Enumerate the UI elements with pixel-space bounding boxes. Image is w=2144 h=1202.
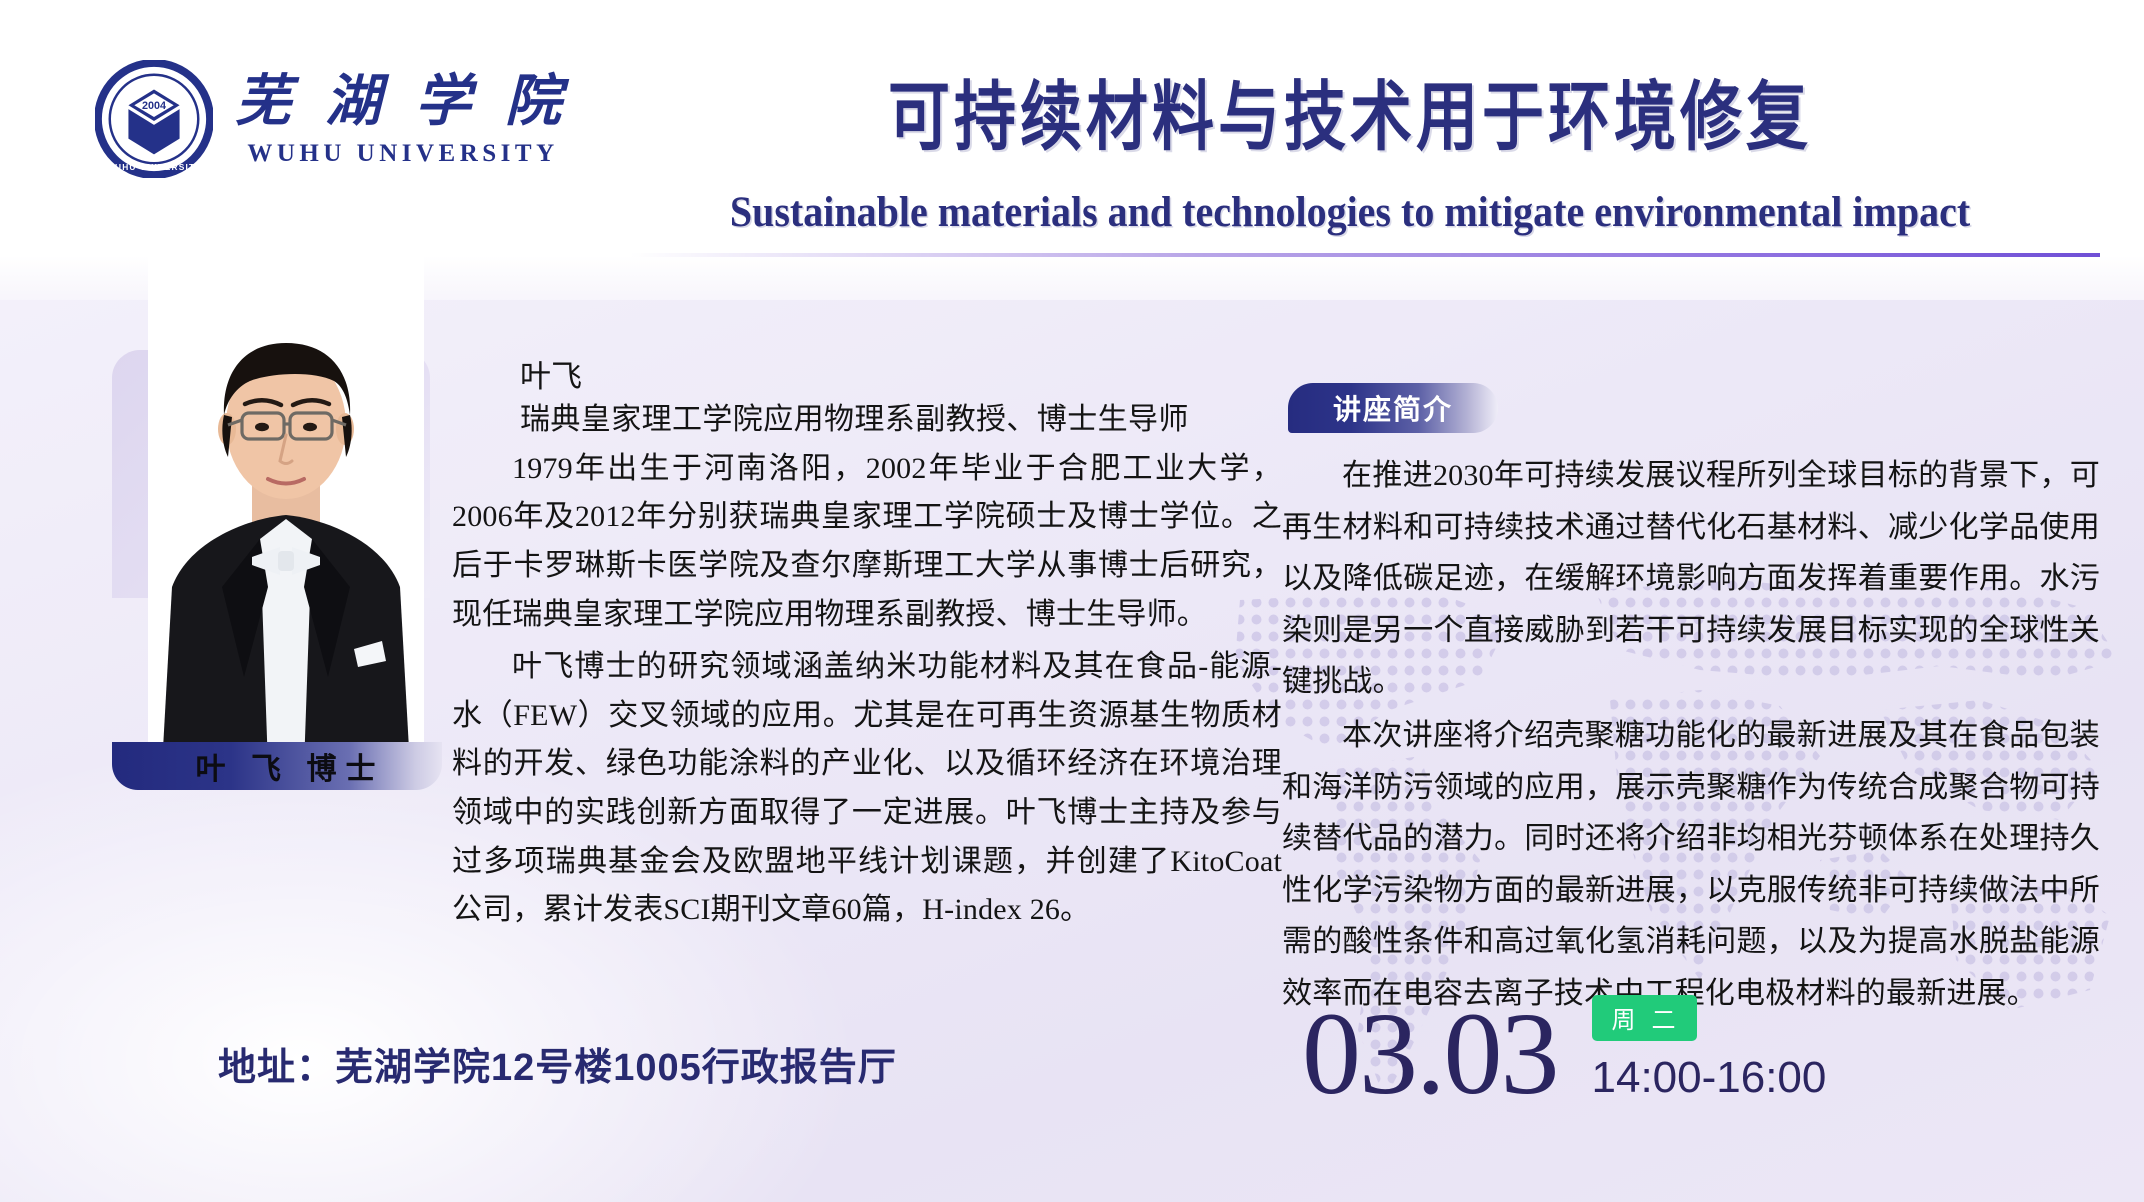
speaker-nameplate: 叶 飞 博士 bbox=[112, 742, 442, 790]
speaker-bio: 叶飞 瑞典皇家理工学院应用物理系副教授、博士生导师 1979年出生于河南洛阳，2… bbox=[452, 358, 1282, 935]
university-name-en: WUHU UNIVERSITY bbox=[247, 140, 558, 168]
poster-title-en: Sustainable materials and technologies t… bbox=[620, 186, 2080, 237]
event-date-block: 03.03 周 二 14:00-16:00 bbox=[1302, 995, 1826, 1109]
svg-text:2004: 2004 bbox=[142, 100, 166, 112]
abstract-badge: 讲座简介 bbox=[1288, 383, 1498, 433]
event-time: 14:00-16:00 bbox=[1592, 1053, 1827, 1103]
speaker-position: 瑞典皇家理工学院应用物理系副教授、博士生导师 bbox=[520, 400, 1282, 439]
title-divider-rule bbox=[630, 253, 2100, 257]
svg-text:WUHU UNIVERSITY: WUHU UNIVERSITY bbox=[106, 162, 202, 172]
university-logo: 2004 WUHU UNIVERSITY 芜 湖 学 院 WUHU UNIVER… bbox=[95, 60, 571, 178]
speaker-bio-paragraph-2: 叶飞博士的研究领域涵盖纳米功能材料及其在食品-能源-水（FEW）交叉领域的应用。… bbox=[452, 643, 1282, 935]
speaker-name: 叶飞 bbox=[520, 358, 1282, 397]
speaker-bio-paragraph-1: 1979年出生于河南洛阳，2002年毕业于合肥工业大学，2006年及2012年分… bbox=[452, 445, 1282, 639]
poster-header: 2004 WUHU UNIVERSITY 芜 湖 学 院 WUHU UNIVER… bbox=[0, 0, 2144, 240]
abstract-body: 在推进2030年可持续发展议程所列全球目标的背景下，可再生材料和可持续技术通过替… bbox=[1282, 450, 2100, 1020]
abstract-paragraph-2: 本次讲座将介绍壳聚糖功能化的最新进展及其在食品包装和海洋防污领域的应用，展示壳聚… bbox=[1282, 710, 2100, 1020]
event-date: 03.03 bbox=[1302, 1000, 1558, 1109]
poster-root: 2004 WUHU UNIVERSITY 芜 湖 学 院 WUHU UNIVER… bbox=[0, 0, 2144, 1202]
event-weekday-badge: 周 二 bbox=[1592, 995, 1697, 1041]
speaker-photo bbox=[148, 257, 424, 767]
abstract-paragraph-1: 在推进2030年可持续发展议程所列全球目标的背景下，可再生材料和可持续技术通过替… bbox=[1282, 450, 2100, 708]
title-block: 可持续材料与技术用于环境修复 Sustainable materials and… bbox=[620, 72, 2080, 233]
event-time-group: 周 二 14:00-16:00 bbox=[1592, 995, 1827, 1109]
poster-title-cn: 可持续材料与技术用于环境修复 bbox=[620, 72, 2080, 167]
speaker-nameplate-label: 叶 飞 博士 bbox=[170, 744, 385, 788]
university-name-cn: 芜 湖 学 院 bbox=[235, 70, 571, 134]
university-seal-icon: 2004 WUHU UNIVERSITY bbox=[95, 60, 213, 178]
event-address: 地址：芜湖学院12号楼1005行政报告厅 bbox=[218, 1036, 897, 1091]
abstract-badge-label: 讲座简介 bbox=[1333, 388, 1453, 428]
